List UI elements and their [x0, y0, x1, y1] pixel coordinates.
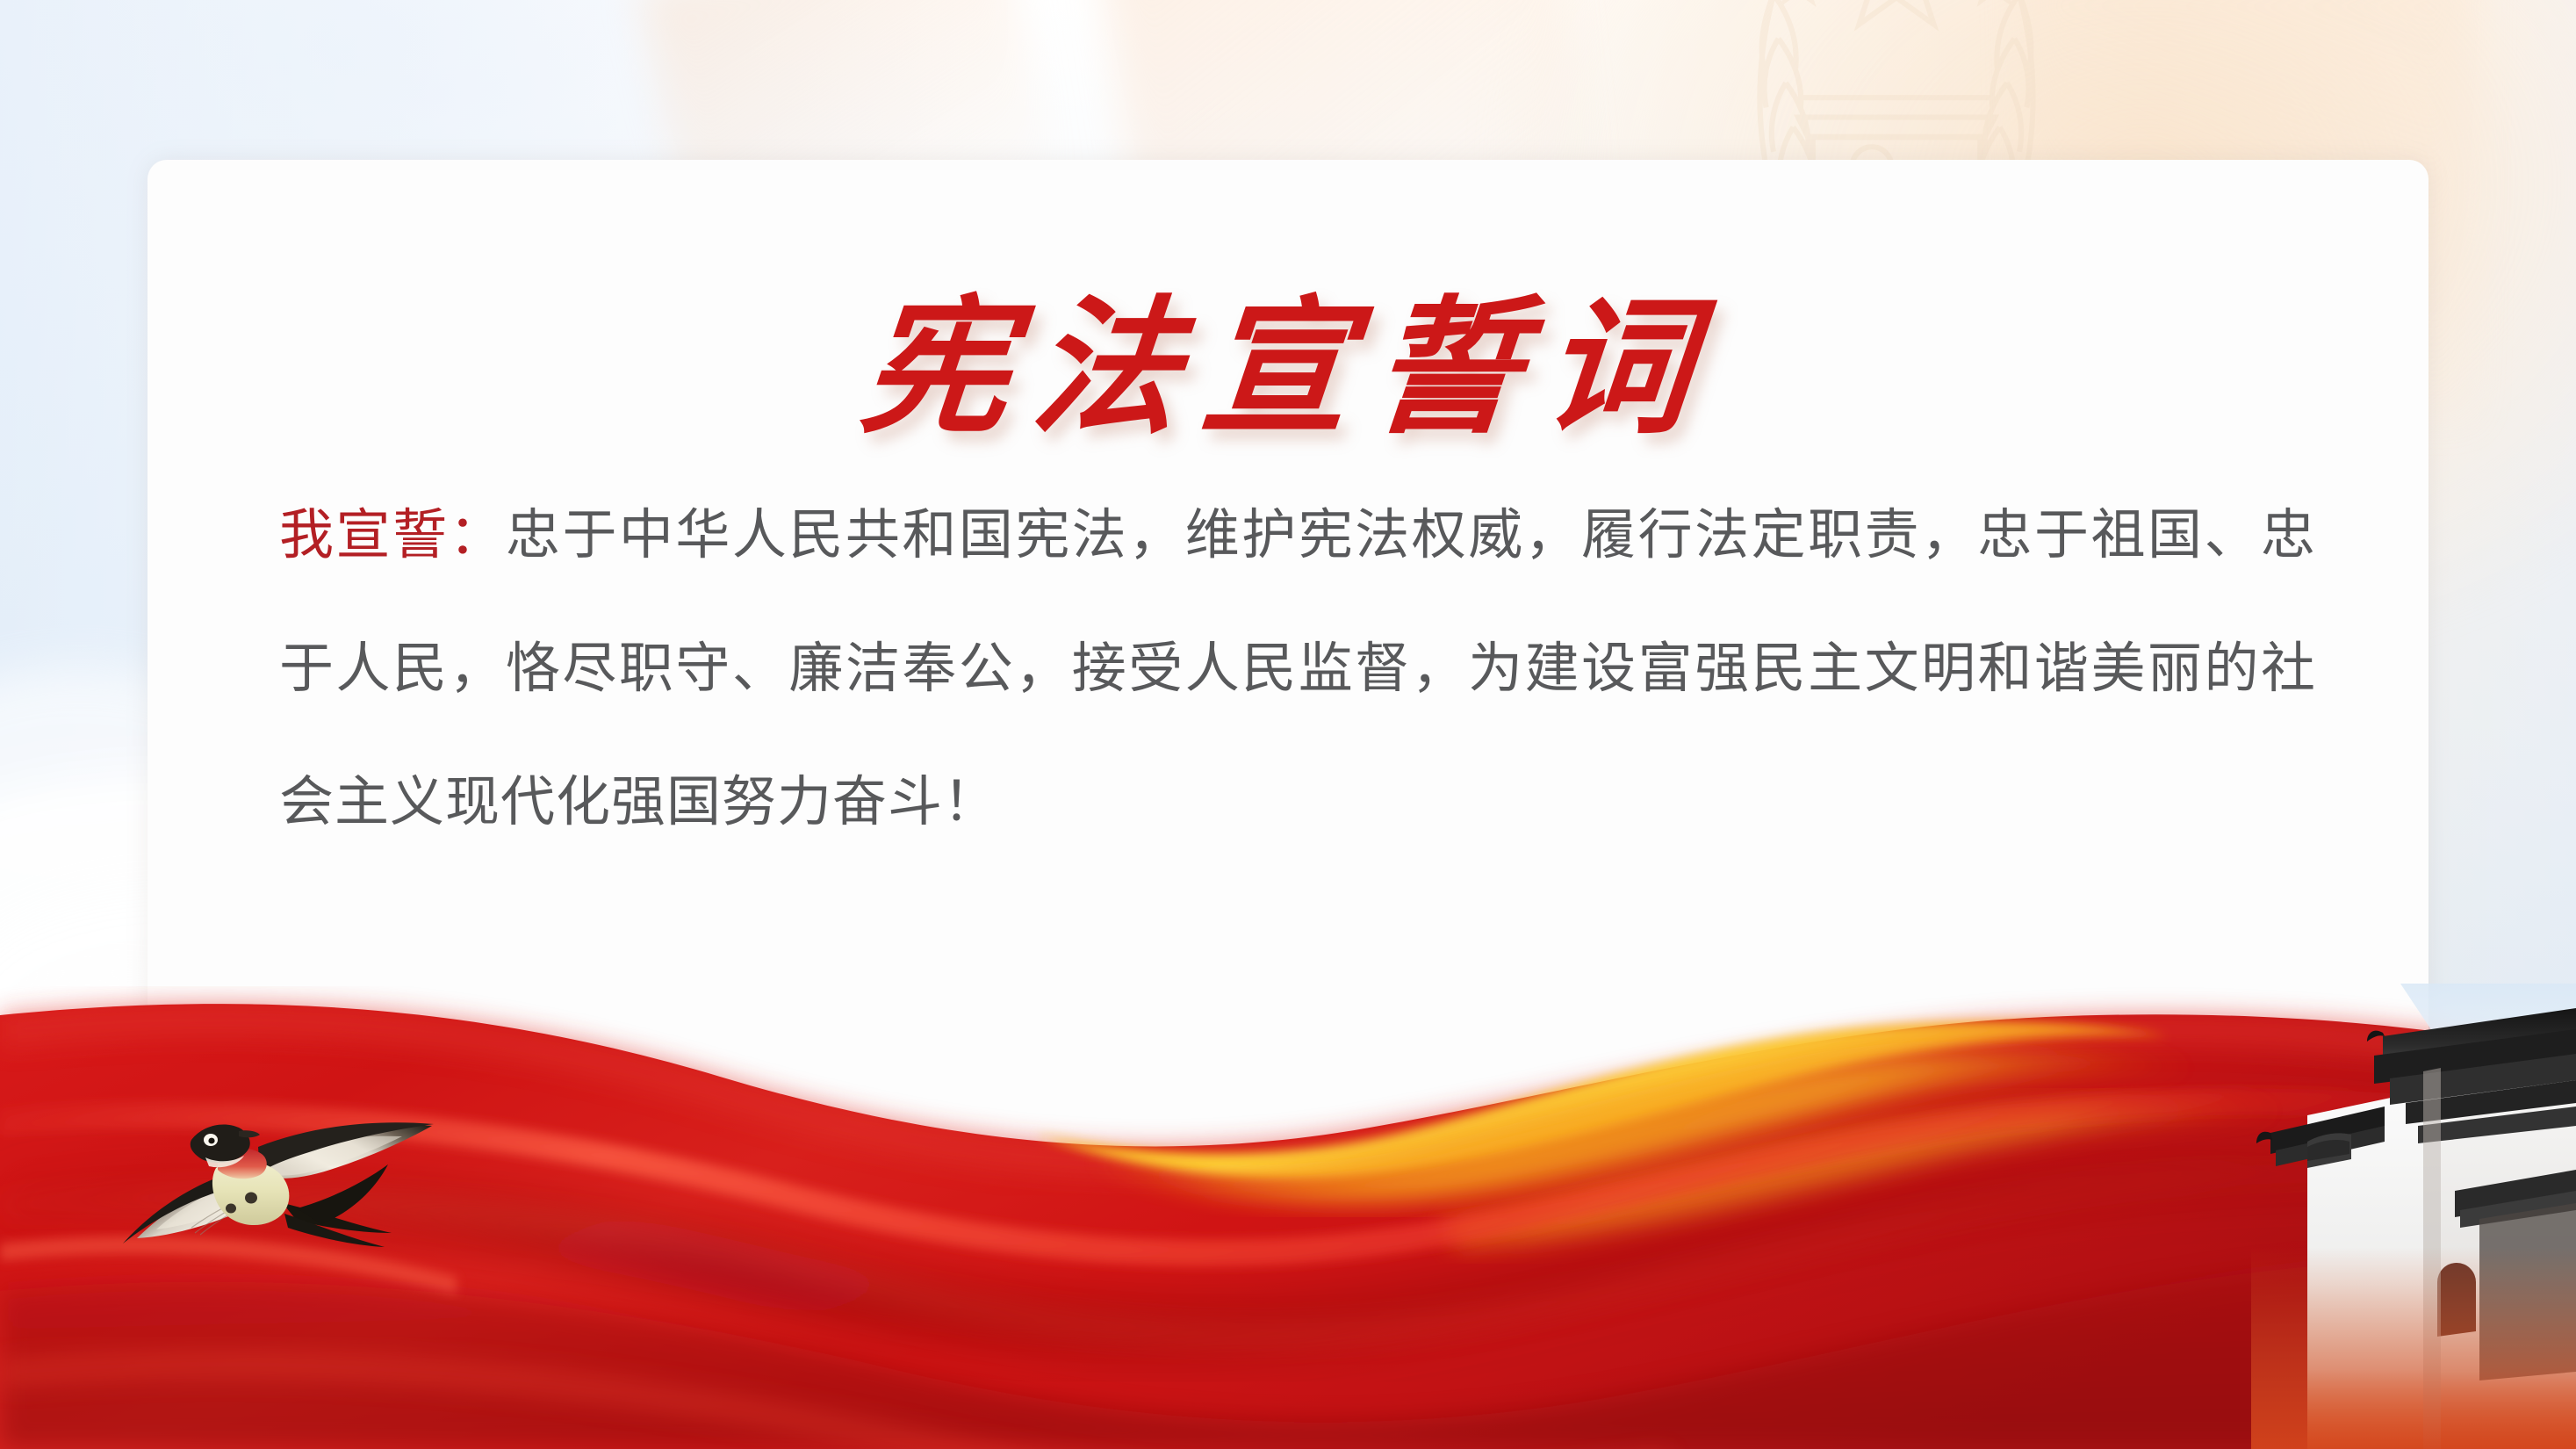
oath-text-block: 我宣誓：忠于中华人民共和国宪法，维护宪法权威，履行法定职责，忠于祖国、忠于人民，…	[279, 469, 2316, 869]
oath-lead-label: 我宣誓：	[279, 505, 506, 566]
swallow-bird-icon	[88, 1096, 465, 1324]
page-title: 宪法宣誓词	[141, 293, 2436, 441]
oath-body-text: 忠于中华人民共和国宪法，维护宪法权威，履行法定职责，忠于祖国、忠于人民，恪尽职守…	[279, 505, 2316, 833]
huizhou-architecture-illustration	[2251, 984, 2576, 1449]
oath-paragraph: 我宣誓：忠于中华人民共和国宪法，维护宪法权威，履行法定职责，忠于祖国、忠于人民，…	[279, 469, 2316, 869]
